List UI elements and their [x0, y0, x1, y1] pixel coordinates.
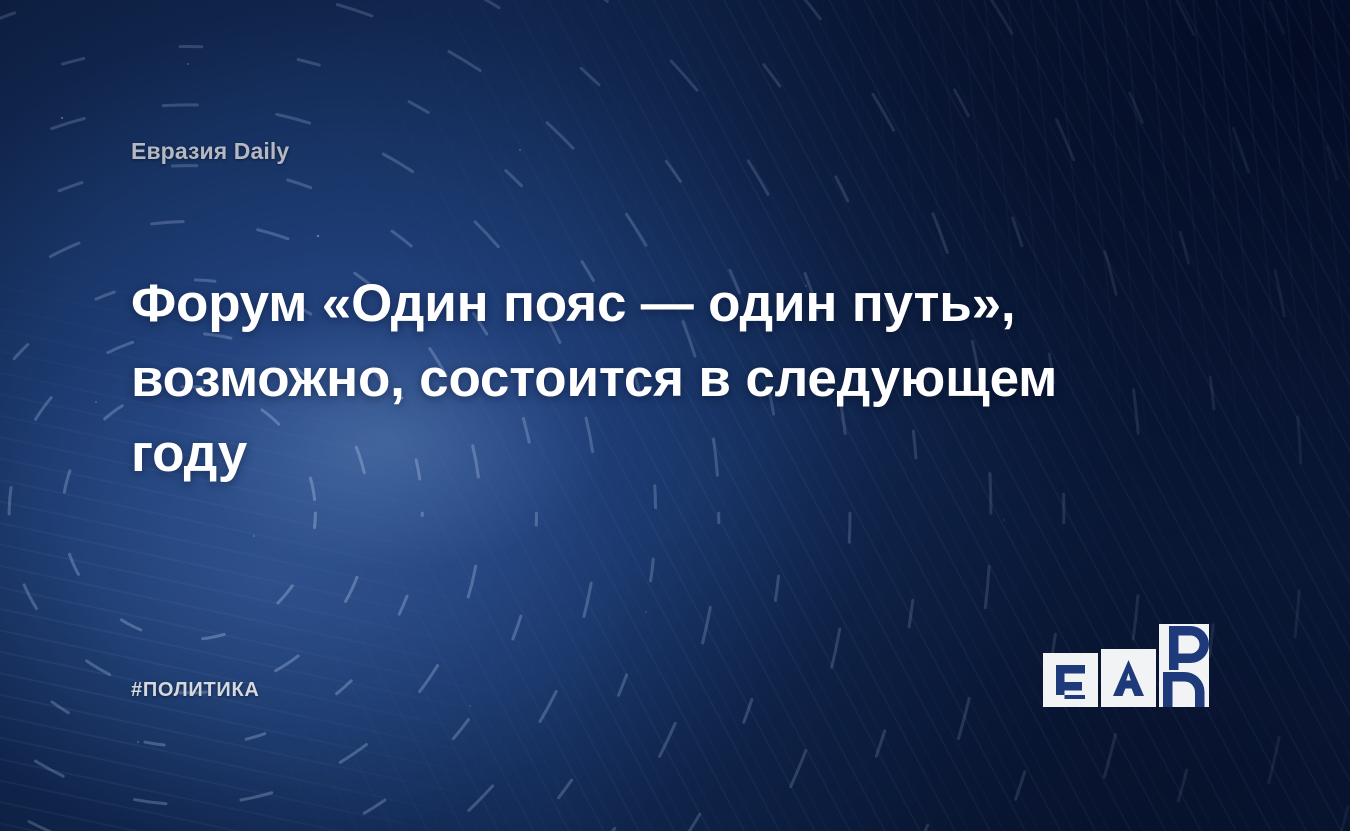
eadaily-logo[interactable]: [1043, 624, 1221, 707]
social-share-card: Евразия Daily Форум «Один пояс — один пу…: [0, 0, 1350, 831]
logo-tile-a-bg: [1101, 649, 1156, 707]
logo-letter-d-lower-stem: [1163, 672, 1173, 707]
brand-name: Евразия Daily: [131, 138, 289, 165]
headline: Форум «Один пояс — один путь», возможно,…: [131, 266, 1121, 491]
logo-letter-d-upper-stem: [1169, 626, 1179, 672]
card-content: Евразия Daily Форум «Один пояс — один пу…: [0, 0, 1350, 831]
category-hashtag[interactable]: #ПОЛИТИКА: [131, 679, 260, 702]
